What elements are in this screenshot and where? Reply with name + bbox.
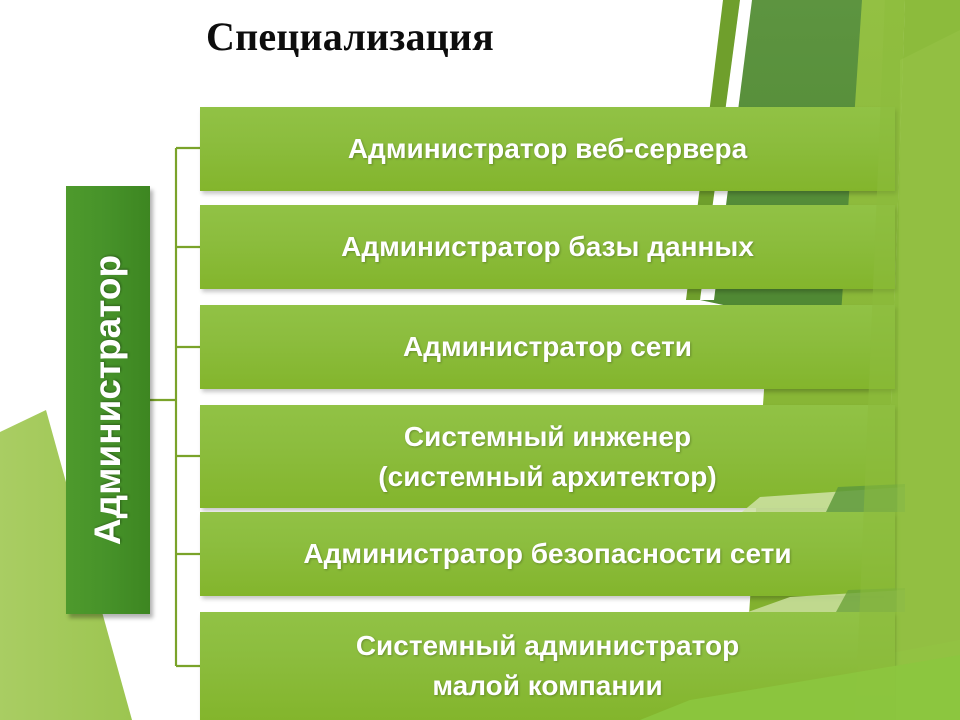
diagram-branch-node[interactable]: Администратор веб-сервера [200, 107, 895, 191]
deco-front-right-wedge-2 [896, 30, 960, 720]
root-node-rotated-text-wrap: Администратор [88, 255, 128, 545]
diagram-branch-node[interactable]: Администратор базы данных [200, 205, 895, 289]
root-node-label: Администратор [88, 255, 128, 545]
branch-node-label: Администратор веб-сервера [334, 129, 761, 169]
branch-node-label: Системный администратор малой компании [342, 626, 753, 706]
branch-node-label: Администратор безопасности сети [289, 534, 805, 574]
diagram-branch-node[interactable]: Системный администратор малой компании [200, 612, 895, 720]
diagram-branch-node[interactable]: Администратор безопасности сети [200, 512, 895, 596]
branch-node-label: Администратор базы данных [327, 227, 768, 267]
diagram-branch-node[interactable]: Системный инженер (системный архитектор) [200, 405, 895, 508]
branch-node-label: Системный инженер (системный архитектор) [364, 417, 730, 497]
diagram-branch-node[interactable]: Администратор сети [200, 305, 895, 389]
branch-node-label: Администратор сети [389, 327, 706, 367]
page-title: Специализация [0, 14, 700, 60]
diagram-root-node[interactable]: Администратор [66, 186, 150, 614]
presentation-slide: Специализация Администратор Администрато… [0, 0, 960, 720]
